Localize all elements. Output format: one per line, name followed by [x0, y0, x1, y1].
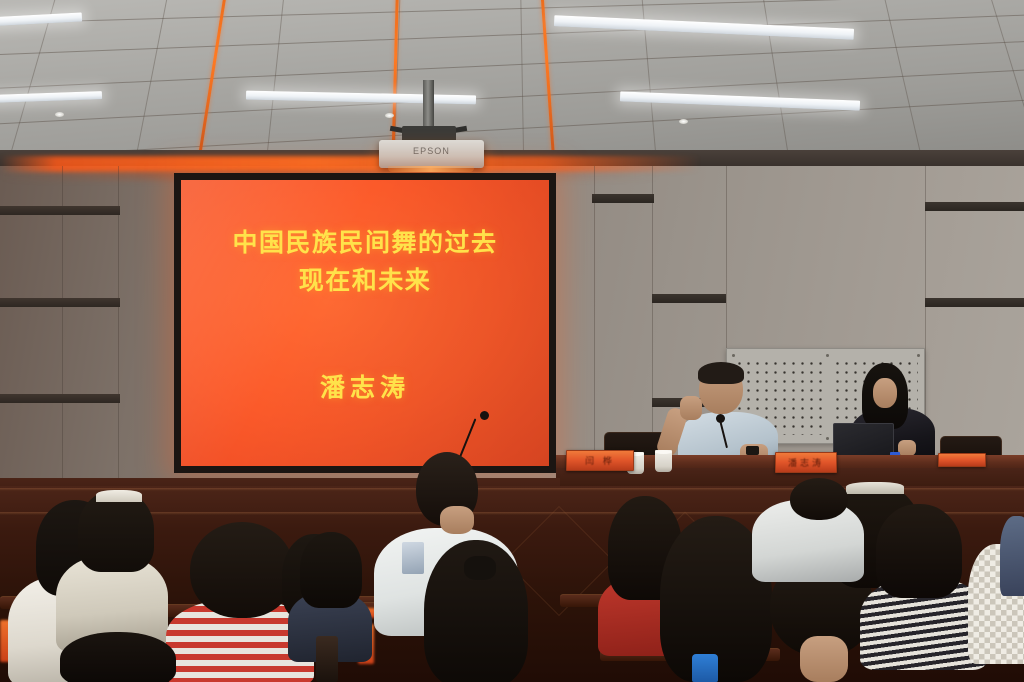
nameplate-far-right [938, 453, 986, 467]
nameplate-left: 闫 桦 [566, 450, 634, 471]
epson-projector: EPSON [379, 140, 484, 168]
panel-screw [732, 354, 735, 357]
ceiling-light [0, 91, 102, 103]
slide-title-line-2: 现在和未来 [181, 262, 549, 300]
audience-hair [60, 632, 176, 682]
speaker-hand [680, 396, 702, 420]
projection-screen: 中国民族民间舞的过去 现在和未来 潘志涛 [181, 180, 549, 466]
panel-screw [826, 437, 829, 440]
audience-neck [440, 506, 474, 534]
headband [846, 482, 904, 494]
speaker-hair [698, 362, 744, 384]
wall-dark-band [0, 298, 120, 307]
audience-hair [300, 532, 362, 608]
wall-dark-band [925, 298, 1024, 307]
screen-sheen [181, 180, 549, 466]
wall-dark-band [925, 202, 1024, 211]
wall-dark-band [0, 394, 120, 403]
ceiling-tile-line [520, 0, 524, 152]
ceiling-tile-line [132, 0, 171, 152]
wristwatch [746, 446, 759, 455]
ceiling-downlight [679, 119, 688, 124]
audience-torso [1000, 516, 1024, 596]
panel-screw [917, 354, 920, 357]
projector-lens-glow [388, 166, 474, 172]
slide-author: 潘志涛 [181, 368, 549, 404]
microphone-head [716, 414, 725, 423]
nameplate-left-text: 闫 桦 [585, 454, 615, 467]
hair-clip [464, 556, 496, 580]
shirt-logo [402, 542, 424, 574]
audience-hair [790, 478, 848, 520]
nameplate-right-text: 潘志涛 [788, 456, 824, 469]
slide-title-line-1: 中国民族民间舞的过去 [181, 224, 549, 262]
ceiling-tile-line [985, 0, 1024, 152]
slide-title: 中国民族民间舞的过去 现在和未来 [181, 224, 549, 299]
projection-screen-frame: 中国民族民间舞的过去 现在和未来 潘志涛 [174, 173, 556, 473]
headband [96, 490, 142, 502]
wall-panel-seam [62, 166, 63, 496]
ceiling-orange-rail [197, 0, 228, 152]
water-bottle [692, 654, 718, 682]
ceiling-light [0, 12, 82, 26]
ceiling-light [246, 91, 476, 105]
wall-dark-band [0, 206, 120, 215]
ceiling [0, 0, 1024, 152]
panel-screw [826, 354, 829, 357]
moderator-face [873, 378, 897, 408]
audience-hair [190, 522, 294, 618]
audience-neck [800, 636, 848, 682]
nameplate-right: 潘志涛 [775, 452, 837, 473]
bottle [316, 636, 338, 682]
ceiling-tile-line [0, 66, 1024, 128]
microphone-head [480, 411, 489, 420]
moderator-hand [898, 440, 916, 456]
wall-dark-band [592, 194, 654, 203]
ceiling-tile-line [0, 96, 1024, 152]
ceiling-light [554, 15, 854, 40]
wall-dark-band [652, 294, 726, 303]
audience-hair [876, 504, 962, 598]
audience-hair [78, 490, 154, 572]
wall-panel-seam [594, 166, 595, 496]
ceiling-downlight [55, 112, 64, 117]
wall-panel-seam [118, 166, 119, 496]
ceiling-light [620, 91, 860, 110]
projector-brand-label: EPSON [379, 146, 484, 156]
paper-cup [655, 450, 672, 472]
ceiling-downlight [385, 113, 394, 118]
lecture-hall-photo: EPSON 中国民族民间舞的过去 现在和未来 潘志涛 [0, 0, 1024, 682]
